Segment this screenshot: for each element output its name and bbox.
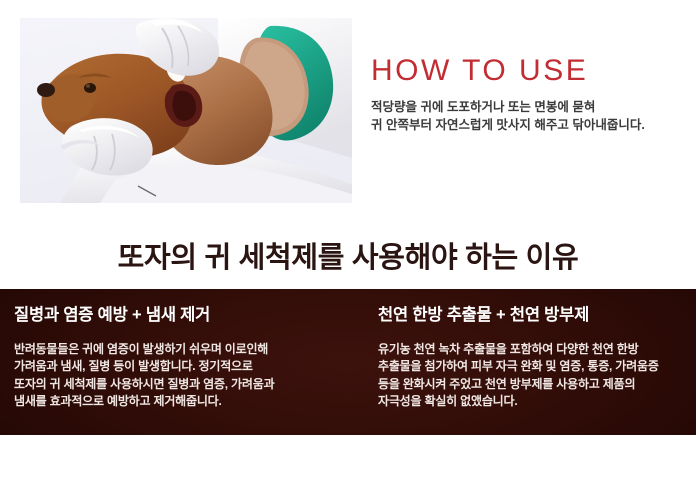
benefit-body-left: 반려동물들은 귀에 염증이 발생하기 쉬우며 이로인해 가려움과 냄새, 질병 …: [14, 341, 344, 411]
top-section: HOW TO USE 적당량을 귀에 도포하거나 또는 면봉에 묻혀 귀 안쪽부…: [0, 0, 696, 215]
benefit-left-line-1: 반려동물들은 귀에 염증이 발생하기 쉬우며 이로인해: [14, 341, 344, 359]
section-heading: 또자의 귀 세척제를 사용해야 하는 이유: [0, 243, 696, 275]
benefit-title-right: 천연 한방 추출물 + 천연 방부제: [378, 306, 688, 326]
benefit-left-line-4: 냄새를 효과적으로 예방하고 제거해줍니다.: [14, 393, 344, 411]
benefits-panel: 질병과 염증 예방 + 냄새 제거 반려동물들은 귀에 염증이 발생하기 쉬우며…: [0, 289, 696, 435]
benefit-column-natural-extracts: 천연 한방 추출물 + 천연 방부제 유기농 천연 녹차 추출물을 포함하여 다…: [378, 289, 688, 435]
benefit-left-line-3: 또자의 귀 세척제를 사용하시면 질병과 염증, 가려움과: [14, 376, 344, 394]
benefit-column-disease-prevention: 질병과 염증 예방 + 냄새 제거 반려동물들은 귀에 염증이 발생하기 쉬우며…: [14, 289, 344, 435]
benefit-right-line-2: 추출물을 첨가하여 피부 자극 완화 및 염증, 통증, 가려움증: [378, 358, 688, 376]
how-to-use-line-2: 귀 안쪽부터 자연스럽게 맛사지 해주고 닦아내줍니다.: [371, 116, 671, 134]
how-to-use-description: 적당량을 귀에 도포하거나 또는 면봉에 묻혀 귀 안쪽부터 자연스럽게 맛사지…: [371, 98, 671, 134]
benefit-title-left: 질병과 염증 예방 + 냄새 제거: [14, 306, 344, 326]
benefit-left-line-2: 가려움과 냄새, 질병 등이 발생합니다. 정기적으로: [14, 358, 344, 376]
benefit-right-line-4: 자극성을 확실히 없앴습니다.: [378, 393, 688, 411]
benefit-body-right: 유기농 천연 녹차 추출물을 포함하여 다양한 천연 한방 추출물을 첨가하여 …: [378, 341, 688, 411]
veterinarian-cleaning-dog-ear-photo: [20, 18, 352, 203]
benefit-right-line-1: 유기농 천연 녹차 추출물을 포함하여 다양한 천연 한방: [378, 341, 688, 359]
benefit-right-line-3: 등을 완화시켜 주었고 천연 방부제를 사용하고 제품의: [378, 376, 688, 394]
how-to-use-title: HOW TO USE: [371, 55, 671, 87]
how-to-use-block: HOW TO USE 적당량을 귀에 도포하거나 또는 면봉에 묻혀 귀 안쪽부…: [371, 55, 671, 134]
how-to-use-line-1: 적당량을 귀에 도포하거나 또는 면봉에 묻혀: [371, 98, 671, 116]
